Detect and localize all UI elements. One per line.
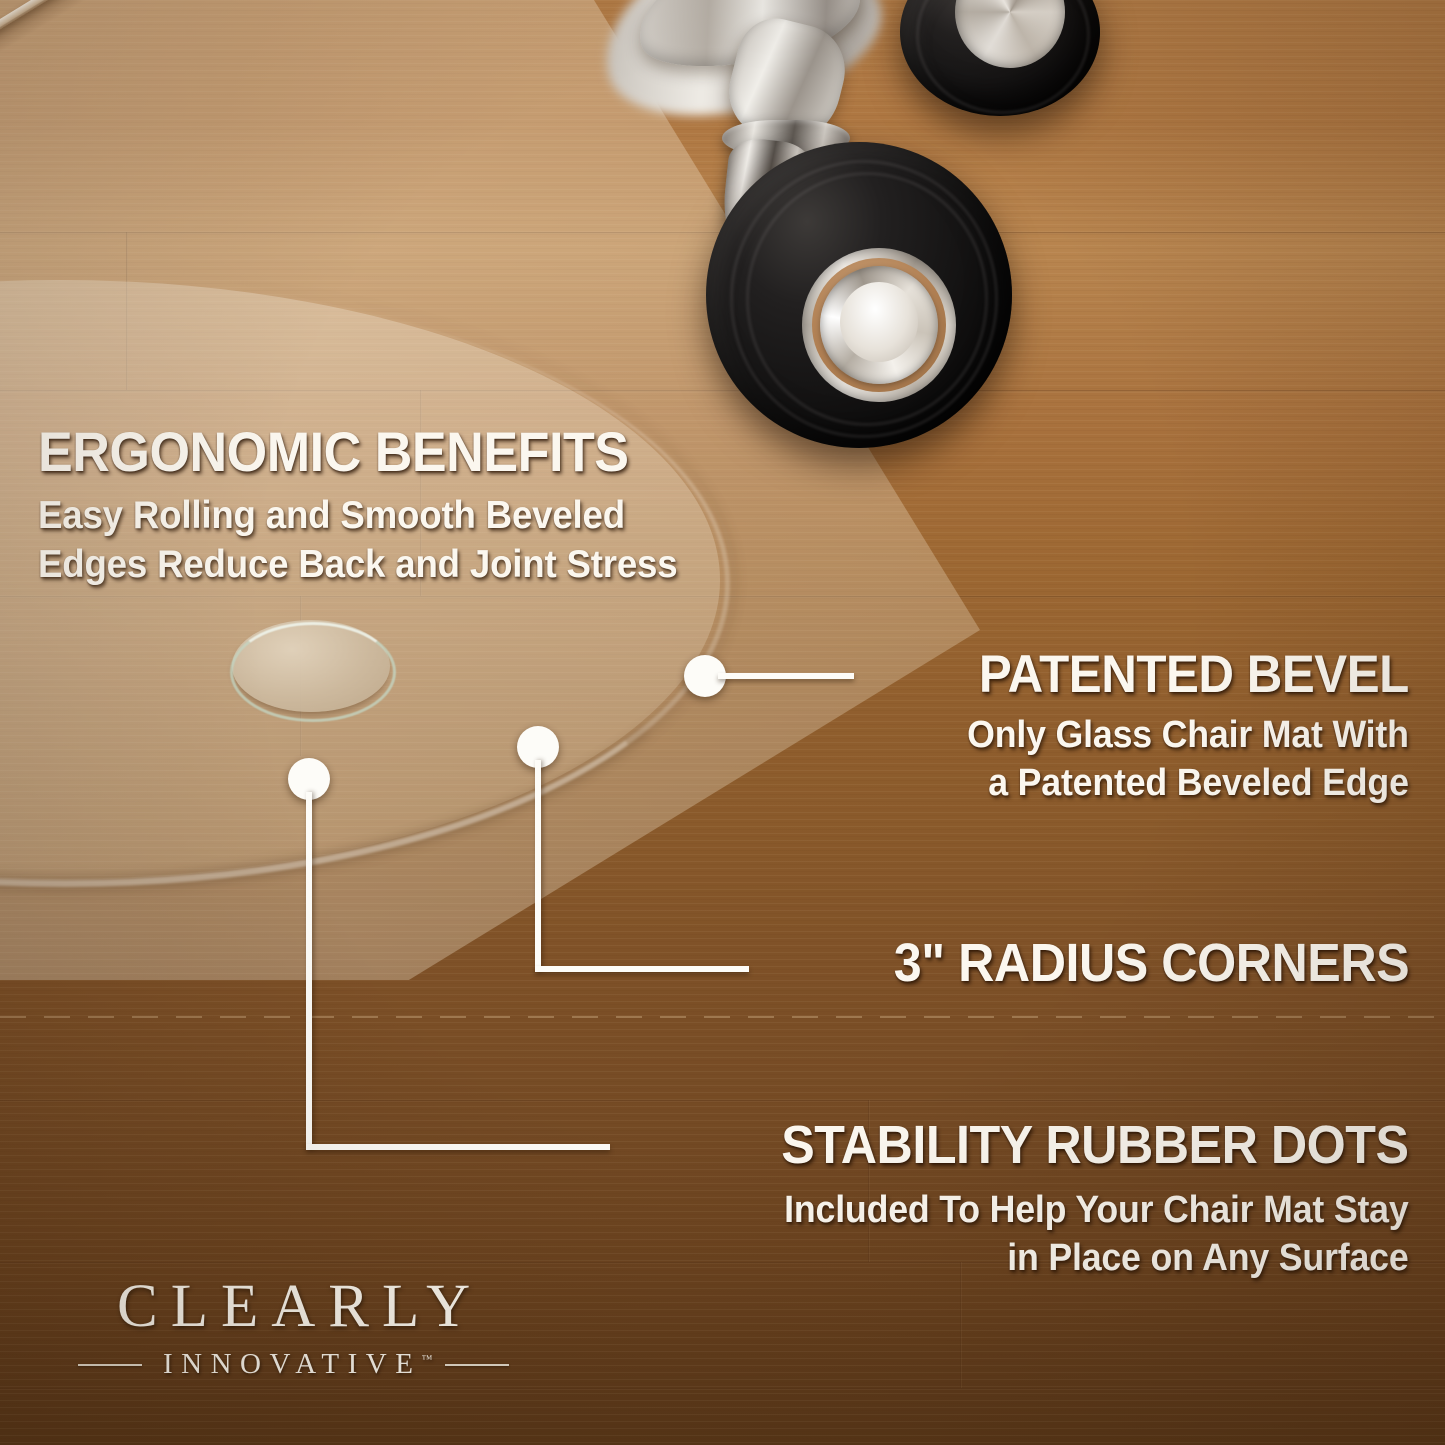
product-feature-image: ERGONOMIC BENEFITS Easy Rolling and Smoo… (0, 0, 1445, 1445)
callout-ergonomic-benefits: ERGONOMIC BENEFITS Easy Rolling and Smoo… (38, 424, 718, 586)
brand-logo: CLEARLY INNOVATIVE™ (78, 1276, 509, 1379)
floor-plank-seam (0, 1388, 1445, 1390)
leader-line-rubber-dots-vertical (306, 792, 312, 1150)
callout-radius-corners: 3" RADIUS CORNERS (855, 936, 1409, 990)
floor-plank-seam (0, 1100, 1445, 1102)
callout-desc-line1: Only Glass Chair Mat With (967, 714, 1409, 757)
leader-line-radius-corners-horizontal (535, 966, 749, 972)
callout-desc-line1: Easy Rolling and Smooth Beveled (38, 494, 677, 538)
callout-desc-line1: Included To Help Your Chair Mat Stay (775, 1189, 1409, 1232)
caster-hub-dish (840, 282, 918, 362)
callout-title: 3" RADIUS CORNERS (894, 936, 1409, 990)
leader-line-rubber-dots-horizontal (306, 1144, 610, 1150)
callout-stability-rubber-dots: STABILITY RUBBER DOTS Included To Help Y… (734, 1118, 1409, 1279)
floor-plank-seam (0, 1016, 1445, 1018)
logo-rule-right (445, 1364, 509, 1366)
rubber-dot-edge (230, 622, 396, 722)
brand-sub: INNOVATIVE™ (155, 1350, 432, 1379)
floor-plank-joint (960, 1262, 962, 1388)
brand-name: CLEARLY (78, 1276, 509, 1337)
callout-desc-line2: in Place on Any Surface (775, 1237, 1409, 1280)
callout-title: PATENTED BEVEL (972, 648, 1409, 701)
brand-sub-text: INNOVATIVE (163, 1348, 421, 1380)
trademark-symbol: ™ (421, 1353, 432, 1365)
brand-sub-row: INNOVATIVE™ (78, 1350, 509, 1379)
callout-desc-line2: Edges Reduce Back and Joint Stress (38, 543, 677, 587)
callout-title: STABILITY RUBBER DOTS (782, 1118, 1409, 1172)
logo-rule-left (78, 1364, 142, 1366)
callout-title: ERGONOMIC BENEFITS (38, 424, 671, 480)
leader-line-patented-bevel (718, 673, 854, 679)
leader-line-radius-corners-vertical (535, 760, 541, 972)
callout-desc-line2: a Patented Beveled Edge (967, 762, 1409, 805)
callout-patented-bevel: PATENTED BEVEL Only Glass Chair Mat With… (939, 648, 1409, 804)
